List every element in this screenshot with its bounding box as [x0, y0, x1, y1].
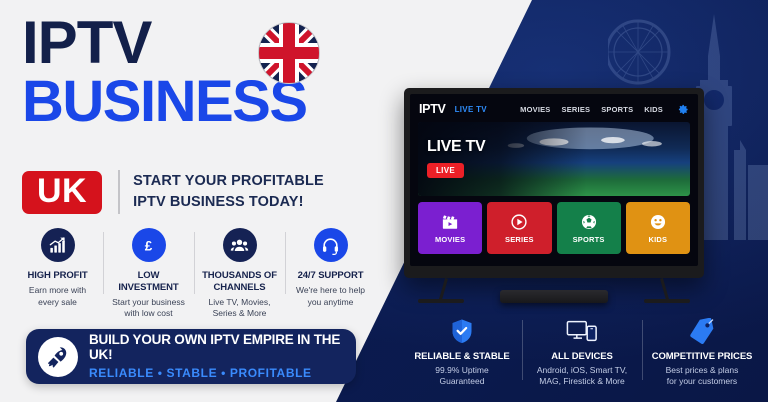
tv-nav-item-movies[interactable]: MOVIES [520, 105, 550, 114]
feature-sub-2: for your customers [647, 376, 757, 388]
tv-bezel: IPTV LIVE TV MOVIES SERIES SPORTS KIDS [404, 88, 704, 278]
tv-foot-base-left [418, 299, 464, 303]
feature-sub: 99.9% Uptime Guaranteed [407, 365, 517, 388]
feature-sub-2: MAG, Firestick & More [527, 376, 637, 388]
feature-sub: Android, iOS, Smart TV, MAG, Firestick &… [527, 365, 637, 388]
tv-foot-left [439, 278, 448, 300]
feature-title-1: THOUSANDS OF [198, 270, 281, 282]
feature-title: THOUSANDS OF CHANNELS [198, 270, 281, 294]
tagline-row: UK START YOUR PROFITABLE IPTV BUSINESS T… [22, 170, 324, 214]
feature-sub-1: 99.9% Uptime [407, 365, 517, 377]
cta-banner[interactable]: BUILD YOUR OWN IPTV EMPIRE IN THE UK! RE… [26, 329, 356, 384]
feature-sub: We're here to help you anytime [289, 285, 372, 308]
set-top-box [500, 290, 608, 303]
tagline-text: START YOUR PROFITABLE IPTV BUSINESS TODA… [133, 171, 324, 212]
devices-icon [527, 318, 637, 344]
tv-stand [404, 278, 704, 304]
price-tag-icon [647, 318, 757, 344]
tv-category-tiles: MOVIES SERIES [418, 202, 690, 254]
feature-title: RELIABLE & STABLE [407, 351, 517, 362]
feature-sub-1: Earn more with [16, 285, 99, 297]
union-jack-graphic [259, 23, 319, 83]
tile-label: MOVIES [435, 235, 465, 244]
shield-check-icon [407, 318, 517, 344]
tile-series[interactable]: SERIES [487, 202, 551, 254]
clapperboard-icon [441, 213, 459, 231]
left-features-row: HIGH PROFIT Earn more with every sale £ … [12, 228, 376, 320]
play-circle-icon [510, 213, 528, 231]
tv-nav-item-live-tv[interactable]: LIVE TV [455, 105, 487, 114]
pound-sterling-icon: £ [132, 228, 166, 262]
feature-sub-2: you anytime [289, 297, 372, 309]
headline-iptv: IPTV [22, 14, 372, 72]
live-badge: LIVE [427, 163, 464, 178]
tagline-line-2: IPTV BUSINESS TODAY! [133, 192, 324, 213]
tv-logo: IPTV [419, 102, 446, 116]
feature-sub-1: Android, iOS, Smart TV, [527, 365, 637, 377]
uk-badge: UK [22, 171, 102, 214]
feature-title: ALL DEVICES [527, 351, 637, 362]
rocket-icon [38, 337, 78, 377]
tv-hero-text: LIVE TV LIVE [427, 138, 485, 178]
feature-sub-2: every sale [16, 297, 99, 309]
tv-nav-item-kids[interactable]: KIDS [644, 105, 663, 114]
feature-support: 24/7 SUPPORT We're here to help you anyt… [285, 228, 376, 308]
cta-text: BUILD YOUR OWN IPTV EMPIRE IN THE UK! RE… [89, 333, 344, 381]
feature-sub: Best prices & plans for your customers [647, 365, 757, 388]
feature-low-investment: £ LOW INVESTMENT Start your business wit… [103, 228, 194, 320]
tv-nav-bar: IPTV LIVE TV MOVIES SERIES SPORTS KIDS [410, 94, 698, 122]
tv-hero-stadium: LIVE TV LIVE [418, 122, 690, 196]
tv-hero-title: LIVE TV [427, 138, 485, 156]
tile-label: SPORTS [573, 235, 605, 244]
uk-flag-icon [258, 22, 320, 84]
feature-title-2: CHANNELS [198, 282, 281, 294]
promo-banner: IPTV BUSINESS UK START YOUR PROFITABLE I… [0, 0, 768, 402]
soccer-ball-icon [580, 213, 598, 231]
right-features-row: RELIABLE & STABLE 99.9% Uptime Guarantee… [402, 318, 762, 388]
gear-icon[interactable] [678, 104, 689, 115]
feature-all-devices: ALL DEVICES Android, iOS, Smart TV, MAG,… [522, 318, 642, 388]
tv-mockup: IPTV LIVE TV MOVIES SERIES SPORTS KIDS [404, 88, 704, 304]
tagline-divider [118, 170, 120, 214]
tv-nav-items: MOVIES SERIES SPORTS KIDS [520, 105, 663, 114]
feature-sub-1: Start your business [107, 297, 190, 309]
feature-title: LOW INVESTMENT [107, 270, 190, 294]
feature-sub-1: Live TV, Movies, [198, 297, 281, 309]
feature-thousands-channels: THOUSANDS OF CHANNELS Live TV, Movies, S… [194, 228, 285, 320]
svg-text:£: £ [145, 238, 153, 253]
feature-sub-2: Series & More [198, 308, 281, 320]
feature-title: HIGH PROFIT [16, 270, 99, 282]
feature-sub-1: We're here to help [289, 285, 372, 297]
feature-sub: Earn more with every sale [16, 285, 99, 308]
tagline-line-1: START YOUR PROFITABLE [133, 171, 324, 192]
feature-sub-1: Best prices & plans [647, 365, 757, 377]
feature-sub-2: Guaranteed [407, 376, 517, 388]
feature-high-profit: HIGH PROFIT Earn more with every sale [12, 228, 103, 308]
feature-reliable-stable: RELIABLE & STABLE 99.9% Uptime Guarantee… [402, 318, 522, 388]
cta-subline: RELIABLE • STABLE • PROFITABLE [89, 366, 344, 380]
users-group-icon [223, 228, 257, 262]
feature-competitive-prices: COMPETITIVE PRICES Best prices & plans f… [642, 318, 762, 388]
headline-business: BUSINESS [22, 74, 372, 131]
tv-foot-base-right [644, 299, 690, 303]
feature-title: 24/7 SUPPORT [289, 270, 372, 282]
tile-movies[interactable]: MOVIES [418, 202, 482, 254]
tile-label: SERIES [505, 235, 534, 244]
feature-sub-2: with low cost [107, 308, 190, 320]
growth-chart-icon [41, 228, 75, 262]
smiley-face-icon [649, 213, 667, 231]
feature-sub: Start your business with low cost [107, 297, 190, 320]
headline-block: IPTV BUSINESS [22, 14, 372, 130]
tv-screen: IPTV LIVE TV MOVIES SERIES SPORTS KIDS [410, 94, 698, 266]
headset-support-icon [314, 228, 348, 262]
cta-headline: BUILD YOUR OWN IPTV EMPIRE IN THE UK! [89, 333, 344, 363]
tv-nav-item-sports[interactable]: SPORTS [601, 105, 633, 114]
tile-label: KIDS [649, 235, 668, 244]
tile-kids[interactable]: KIDS [626, 202, 690, 254]
feature-sub: Live TV, Movies, Series & More [198, 297, 281, 320]
feature-title: COMPETITIVE PRICES [647, 351, 757, 362]
tv-foot-right [660, 278, 669, 300]
tv-nav-item-series[interactable]: SERIES [562, 105, 591, 114]
tile-sports[interactable]: SPORTS [557, 202, 621, 254]
